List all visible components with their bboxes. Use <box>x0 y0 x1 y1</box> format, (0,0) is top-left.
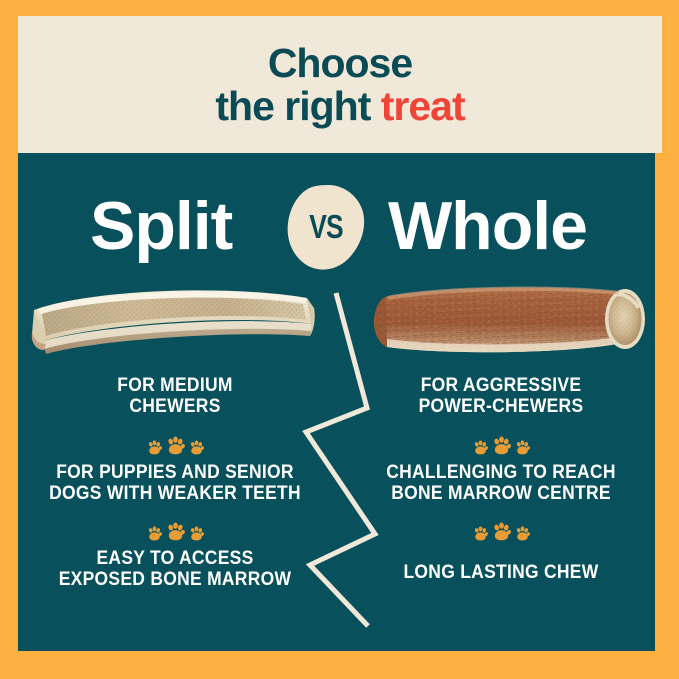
paw-separator <box>356 425 646 455</box>
feature-line: FOR PUPPIES AND SENIOR <box>42 462 309 483</box>
feature-item: FOR MEDIUM CHEWERS <box>42 375 309 418</box>
right-column-spacer <box>356 548 646 562</box>
comparison-title-row: Split VS Whole <box>18 179 655 274</box>
feature-item: CHALLENGING TO REACH BONE MARROW CENTRE <box>368 462 635 505</box>
paw-separator <box>356 511 646 541</box>
paw-print-icon <box>147 440 162 455</box>
paw-print-icon <box>473 526 488 541</box>
split-title: Split <box>90 179 232 274</box>
vs-label: VS <box>294 183 358 271</box>
paw-separator <box>30 511 320 541</box>
paw-print-icon <box>189 440 204 455</box>
header-title-line1: Choose <box>268 43 412 83</box>
feature-line: BONE MARROW CENTRE <box>368 483 635 504</box>
whole-bone-photo <box>371 281 655 361</box>
feature-line: EXPOSED BONE MARROW <box>42 569 309 590</box>
feature-line: CHEWERS <box>42 396 309 417</box>
header-title-accent: treat <box>381 83 465 129</box>
feature-line: POWER-CHEWERS <box>368 396 635 417</box>
header-banner: Choose the right treat <box>18 16 662 153</box>
feature-line: FOR AGGRESSIVE <box>368 375 635 396</box>
feature-item: FOR PUPPIES AND SENIOR DOGS WITH WEAKER … <box>42 462 309 505</box>
feature-item: FOR AGGRESSIVE POWER-CHEWERS <box>368 375 635 418</box>
whole-feature-list: FOR AGGRESSIVE POWER-CHEWERS <box>356 375 646 583</box>
whole-title: Whole <box>388 179 587 274</box>
header-title-prefix: the right <box>215 83 380 129</box>
paw-print-icon <box>492 522 511 541</box>
feature-item: LONG LASTING CHEW <box>368 562 635 583</box>
feature-line: EASY TO ACCESS <box>42 548 309 569</box>
comparison-panel: Split VS Whole <box>18 153 655 651</box>
split-bone-photo <box>26 284 316 362</box>
feature-line: FOR MEDIUM <box>42 375 309 396</box>
paw-print-icon <box>147 526 162 541</box>
feature-line: DOGS WITH WEAKER TEETH <box>42 483 309 504</box>
paw-print-icon <box>492 436 511 455</box>
paw-print-icon <box>473 440 488 455</box>
paw-print-icon <box>515 440 530 455</box>
paw-separator <box>30 425 320 455</box>
header-title-line2: the right treat <box>215 86 464 126</box>
feature-line: LONG LASTING CHEW <box>368 562 635 583</box>
paw-print-icon <box>189 526 204 541</box>
paw-print-icon <box>166 436 185 455</box>
paw-print-icon <box>166 522 185 541</box>
paw-print-icon <box>515 526 530 541</box>
split-feature-list: FOR MEDIUM CHEWERS <box>30 375 320 591</box>
poster-frame: Choose the right treat Split VS Whole <box>0 0 679 679</box>
feature-item: EASY TO ACCESS EXPOSED BONE MARROW <box>42 548 309 591</box>
feature-line: CHALLENGING TO REACH <box>368 462 635 483</box>
